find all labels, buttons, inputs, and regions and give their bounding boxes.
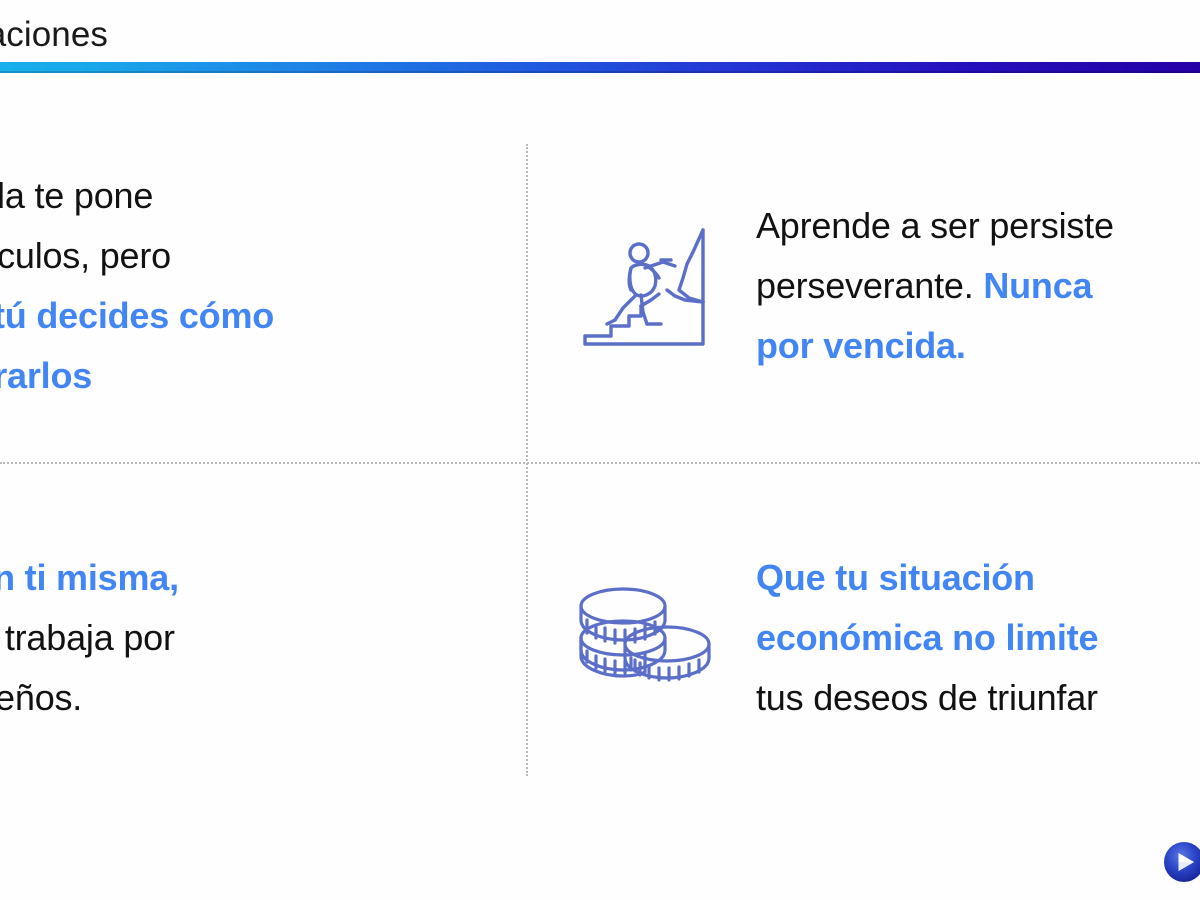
- card-line: obstáculos, pero: [0, 235, 171, 276]
- card-text: La vida te pone obstáculos, pero solo tú…: [0, 166, 274, 406]
- coins-stack-icon: [571, 576, 721, 701]
- card-line-highlight: solo tú decides cómo: [0, 295, 274, 336]
- card-text: ree en ti misma, cha y trabaja por us su…: [0, 548, 179, 728]
- card-line-highlight: por vencida.: [756, 325, 966, 366]
- play-circle-icon: [1163, 841, 1200, 883]
- accent-gradient-bar: [0, 62, 1200, 73]
- slide: endaciones La vida te pone obstáculos, p…: [0, 0, 1200, 900]
- card-line-highlight: ree en ti misma,: [0, 557, 179, 598]
- card-line-highlight: superarlos: [0, 355, 92, 396]
- card-line: cha y trabaja por: [0, 617, 175, 658]
- card-line: perseverante.: [756, 265, 983, 306]
- card-grid: La vida te pone obstáculos, pero solo tú…: [0, 96, 1200, 796]
- card-line: Aprende a ser persiste: [756, 205, 1114, 246]
- card-cree-en-ti: ree en ti misma, cha y trabaja por us su…: [0, 488, 508, 788]
- card-line: tus deseos de triunfar: [756, 677, 1098, 718]
- card-situacion-economica: Que tu situación económica no limite tus…: [566, 488, 1200, 788]
- slide-header: endaciones: [0, 0, 1200, 62]
- card-icon-slot: [566, 558, 726, 718]
- horizontal-dotted-divider: [0, 462, 1200, 464]
- card-text: Que tu situación económica no limite tus…: [726, 548, 1098, 728]
- mountain-climber-icon: [571, 216, 721, 356]
- card-line: La vida te pone: [0, 175, 153, 216]
- card-line-highlight: económica no limite: [756, 617, 1098, 658]
- card-line-highlight: Que tu situación: [756, 557, 1035, 598]
- vertical-dotted-divider: [526, 144, 528, 776]
- card-icon-slot: [566, 206, 726, 366]
- play-circle-logo[interactable]: [1163, 841, 1200, 883]
- card-persistencia: Aprende a ser persiste perseverante. Nun…: [566, 136, 1200, 436]
- card-obstaculos: La vida te pone obstáculos, pero solo tú…: [0, 136, 508, 436]
- card-text: Aprende a ser persiste perseverante. Nun…: [726, 196, 1114, 376]
- card-line: us sueños.: [0, 677, 82, 718]
- card-line-highlight: Nunca: [983, 265, 1092, 306]
- page-title: endaciones: [0, 14, 108, 56]
